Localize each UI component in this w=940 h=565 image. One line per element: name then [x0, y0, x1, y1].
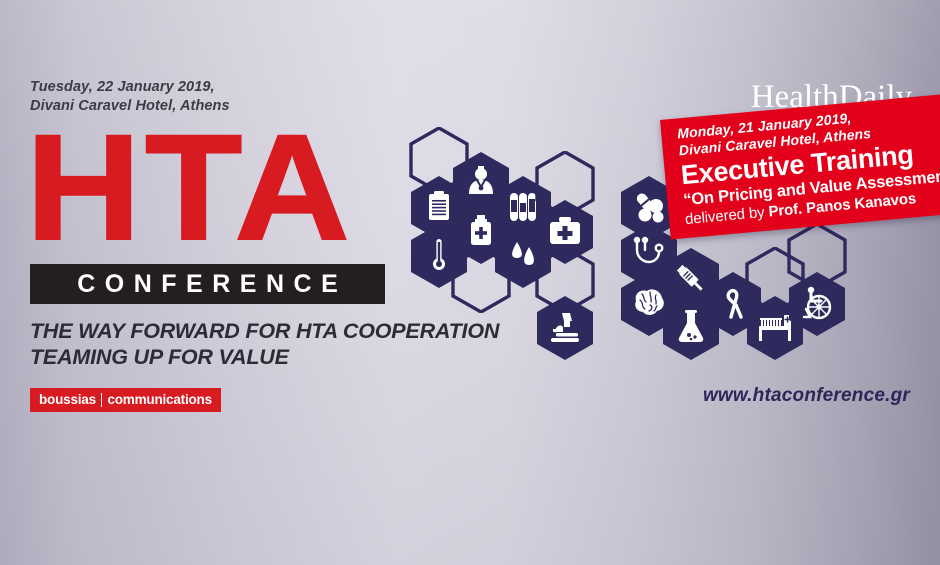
- hexagon-cell-blood-drops-icon: [493, 223, 553, 289]
- hexagon-cell-wheelchair-icon: [787, 271, 847, 337]
- hexagon-outline-icon: [535, 247, 595, 313]
- hexagon-outline-icon: [535, 151, 595, 217]
- hexagon-cell-doctor-icon: [451, 151, 511, 217]
- conference-poster: Tuesday, 22 January 2019, Divani Caravel…: [0, 0, 940, 565]
- conference-bar: CONFERENCE: [30, 264, 385, 304]
- boussias-logo-first: boussias: [39, 392, 96, 407]
- hexagon-cell-flask-icon: [661, 295, 721, 361]
- website-url[interactable]: www.htaconference.gr: [703, 385, 910, 407]
- hexagon-cell-ribbon-icon: [703, 271, 763, 337]
- hexagon-outline-icon: [451, 247, 511, 313]
- logo-divider: [101, 393, 103, 407]
- hexagon-cell-thermometer-icon: [409, 223, 469, 289]
- boussias-logo-second: communications: [107, 392, 211, 407]
- hexagon-cell-brain-icon: [619, 271, 679, 337]
- hexagon-outline-icon: [409, 127, 469, 193]
- hexagon-cell-first-aid-kit-icon: [535, 199, 595, 265]
- conference-bar-label: CONFERENCE: [68, 270, 348, 299]
- hexagon-cell-hospital-bed-icon: [745, 295, 805, 361]
- hexagon-cell-clipboard-icon: [409, 175, 469, 241]
- executive-training-banner: Monday, 21 January 2019, Divani Caravel …: [660, 89, 940, 239]
- hexagon-outline-icon: [787, 223, 847, 289]
- hexagon-cell-syringe-icon: [661, 247, 721, 313]
- hexagon-cell-test-tubes-icon: [493, 175, 553, 241]
- page-title: HTA: [26, 112, 354, 262]
- hexagon-cell-microscope-icon: [535, 295, 595, 361]
- hexagon-cell-medicine-bottle-icon: [451, 199, 511, 265]
- hexagon-outline-icon: [745, 247, 805, 313]
- boussias-communications-logo: boussias communications: [30, 388, 221, 412]
- tagline: THE WAY FORWARD FOR HTA COOPERATION TEAM…: [30, 318, 499, 370]
